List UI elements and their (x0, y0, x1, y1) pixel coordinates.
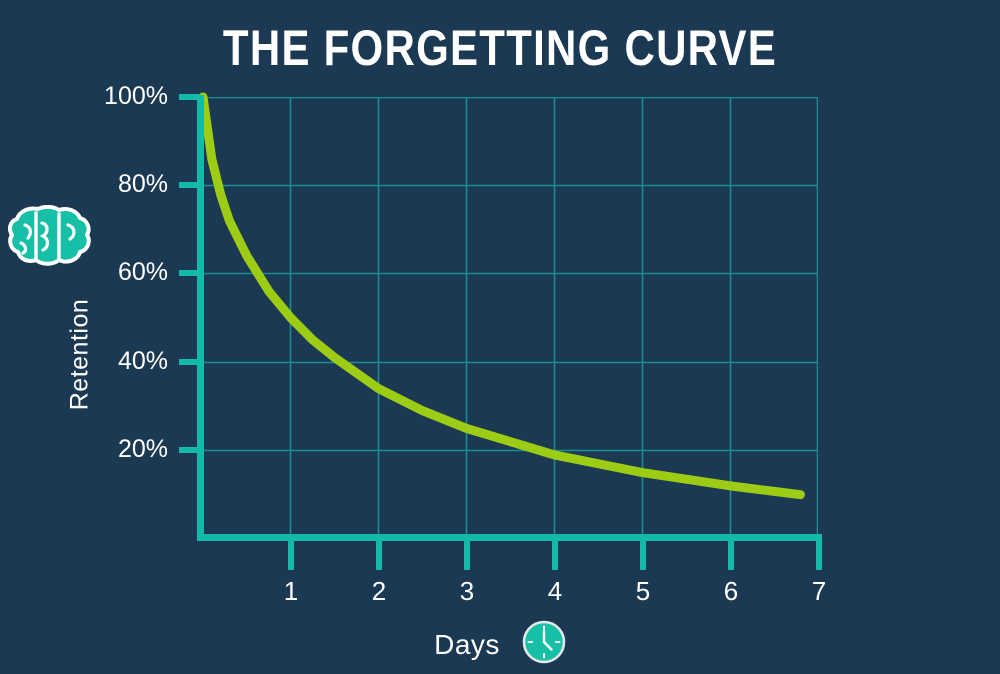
x-tick-label-6: 6 (711, 578, 751, 604)
brain-icon (8, 205, 94, 272)
x-tick-label-4: 4 (535, 578, 575, 604)
y-axis-title: Retention (66, 265, 95, 445)
retention-curve (203, 97, 818, 535)
page-title: THE FORGETTING CURVE (80, 22, 920, 75)
x-tick-label-7: 7 (799, 578, 839, 604)
clock-icon (522, 620, 566, 669)
x-tick-mark-6 (728, 540, 734, 570)
x-tick-label-5: 5 (623, 578, 663, 604)
plot-area (203, 97, 818, 535)
y-tick-label-60: 60% (118, 260, 168, 285)
x-tick-label-3: 3 (447, 578, 487, 604)
x-tick-mark-5 (640, 540, 646, 570)
x-tick-mark-3 (464, 540, 470, 570)
x-tick-label-1: 1 (271, 578, 311, 604)
x-axis-title-group: Days (0, 620, 1000, 669)
y-tick-label-80: 80% (118, 172, 168, 197)
x-axis-title: Days (434, 629, 500, 661)
x-tick-mark-2 (376, 540, 382, 570)
y-tick-label-100: 100% (104, 84, 168, 109)
x-tick-mark-7 (816, 540, 822, 570)
x-tick-mark-1 (288, 540, 294, 570)
x-tick-mark-4 (552, 540, 558, 570)
y-tick-label-40: 40% (118, 349, 168, 374)
y-axis-line (197, 95, 204, 541)
y-tick-label-20: 20% (118, 437, 168, 462)
x-tick-label-2: 2 (359, 578, 399, 604)
chart-canvas: THE FORGETTING CURVE Retention 100% 80% … (0, 0, 1000, 674)
